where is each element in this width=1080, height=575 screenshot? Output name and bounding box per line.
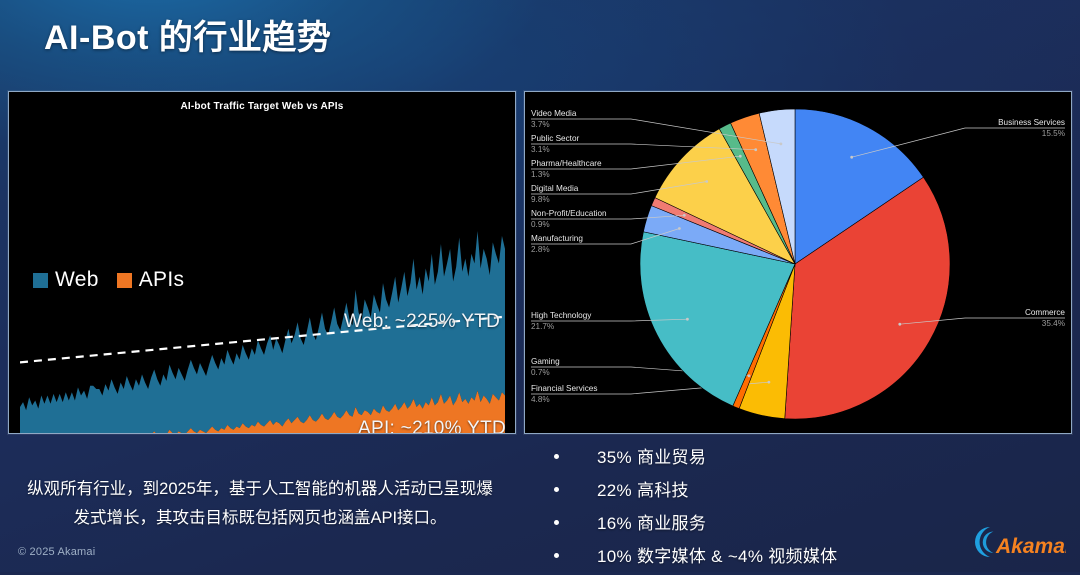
copyright-text: © 2025 Akamai <box>18 546 95 558</box>
pie-label-percent: 0.9% <box>531 220 550 229</box>
pie-label-percent: 4.8% <box>531 395 550 404</box>
pie-label-name: Digital Media <box>531 184 579 193</box>
pie-leader-dot <box>678 227 681 230</box>
bullet-text: 16% 商业服务 <box>597 509 706 534</box>
akamai-wordmark: Akamai <box>995 535 1066 558</box>
bullet-dot-icon <box>554 487 559 492</box>
bullet-text: 35% 商业贸易 <box>597 443 706 468</box>
akamai-wave-icon <box>975 527 990 557</box>
pie-leader-dot <box>850 156 853 159</box>
pie-leader-dot <box>768 381 771 384</box>
bullet-dot-icon <box>554 520 559 525</box>
traffic-chart-panel: AI-bot Traffic Target Web vs APIs Web AP… <box>8 91 516 434</box>
pie-label-name: Manufacturing <box>531 234 583 243</box>
industry-pie-svg: Business Services15.5%Commerce35.4%Finan… <box>525 92 1071 433</box>
pie-leader-dot <box>898 323 901 326</box>
pie-label-name: Non-Profit/Education <box>531 209 607 218</box>
pie-label-percent: 0.7% <box>531 368 550 377</box>
pie-label-name: Business Services <box>998 118 1065 127</box>
akamai-logo: Akamai <box>966 523 1066 561</box>
industry-pie-panel: Business Services15.5%Commerce35.4%Finan… <box>524 91 1072 434</box>
pie-label-percent: 3.7% <box>531 120 550 129</box>
annotation-web-ytd: Web: ~225% YTD <box>344 311 500 333</box>
bullet-text: 10% 数字媒体 & ~4% 视频媒体 <box>597 542 837 567</box>
list-item: 35% 商业贸易 <box>530 443 960 468</box>
pie-leader-dot <box>754 148 757 151</box>
list-item: 22% 高科技 <box>530 476 960 501</box>
pie-label-percent: 9.8% <box>531 195 550 204</box>
pie-label-name: Video Media <box>531 109 577 118</box>
pie-leader-dot <box>739 155 742 158</box>
pie-leader-dot <box>780 143 783 146</box>
pie-label-percent: 21.7% <box>531 322 554 331</box>
pie-label-name: Pharma/Healthcare <box>531 159 602 168</box>
pie-leader-dot <box>748 374 751 377</box>
akamai-logo-svg: Akamai <box>966 523 1066 561</box>
pie-leader-dot <box>683 214 686 217</box>
pie-leader-dot <box>705 180 708 183</box>
pie-label-name: High Technology <box>531 311 592 320</box>
pie-leader-dot <box>686 318 689 321</box>
pie-label-percent: 3.1% <box>531 145 550 154</box>
page-title: AI-Bot 的行业趋势 <box>44 10 331 59</box>
pie-label-percent: 1.3% <box>531 170 550 179</box>
bullet-dot-icon <box>554 454 559 459</box>
industry-bullet-list: 35% 商业贸易22% 高科技16% 商业服务10% 数字媒体 & ~4% 视频… <box>530 443 960 575</box>
traffic-chart-title: AI-bot Traffic Target Web vs APIs <box>9 101 515 112</box>
summary-paragraph: 纵观所有行业，到2025年，基于人工智能的机器人活动已呈现爆发式增长，其攻击目标… <box>20 475 500 533</box>
annotation-api-ytd: API: ~210% YTD <box>358 418 506 434</box>
pie-label-name: Public Sector <box>531 134 580 143</box>
industry-pie-wrap: Business Services15.5%Commerce35.4%Finan… <box>525 92 1071 433</box>
pie-label-name: Financial Services <box>531 384 597 393</box>
slide-canvas: AI-Bot 的行业趋势 AI-bot Traffic Target Web v… <box>0 0 1080 572</box>
list-item: 16% 商业服务 <box>530 509 960 534</box>
pie-label-name: Gaming <box>531 357 560 366</box>
pie-label-name: Commerce <box>1025 308 1065 317</box>
list-item: 10% 数字媒体 & ~4% 视频媒体 <box>530 542 960 567</box>
akamai-wave-inner-icon <box>983 532 994 554</box>
bullet-dot-icon <box>554 553 559 558</box>
pie-label-percent: 2.8% <box>531 245 550 254</box>
pie-label-percent: 35.4% <box>1042 319 1065 328</box>
pie-label-percent: 15.5% <box>1042 129 1065 138</box>
bullet-text: 22% 高科技 <box>597 476 689 501</box>
